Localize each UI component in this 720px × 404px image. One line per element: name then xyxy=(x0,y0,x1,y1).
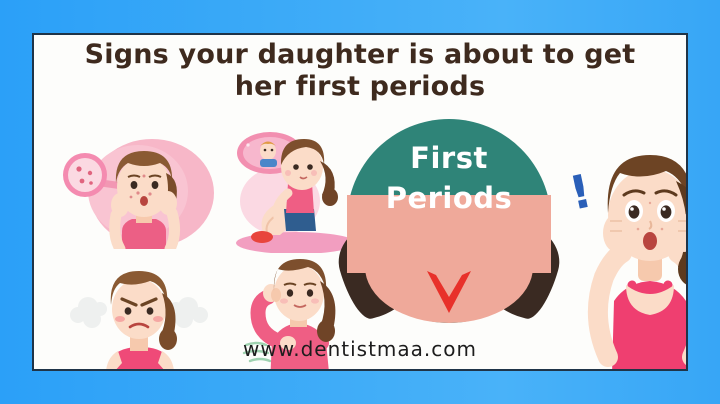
heart-icon xyxy=(422,267,476,321)
website-url: www.dentistmaa.com xyxy=(34,337,686,361)
poster-card: Signs your daughter is about to get her … xyxy=(32,33,688,371)
emblem-label-first: First xyxy=(347,141,551,175)
page-title: Signs your daughter is about to get her … xyxy=(34,39,686,103)
poster-frame: Signs your daughter is about to get her … xyxy=(0,0,720,404)
page-title-line-1: Signs your daughter is about to get xyxy=(85,39,636,70)
illustration-shocked-girl: ! ! xyxy=(564,135,688,371)
first-periods-emblem: First Periods xyxy=(347,119,551,323)
emblem-label-periods: Periods xyxy=(347,181,551,215)
page-title-line-2: her first periods xyxy=(46,71,674,103)
illustration-girl-with-acne xyxy=(60,131,222,249)
